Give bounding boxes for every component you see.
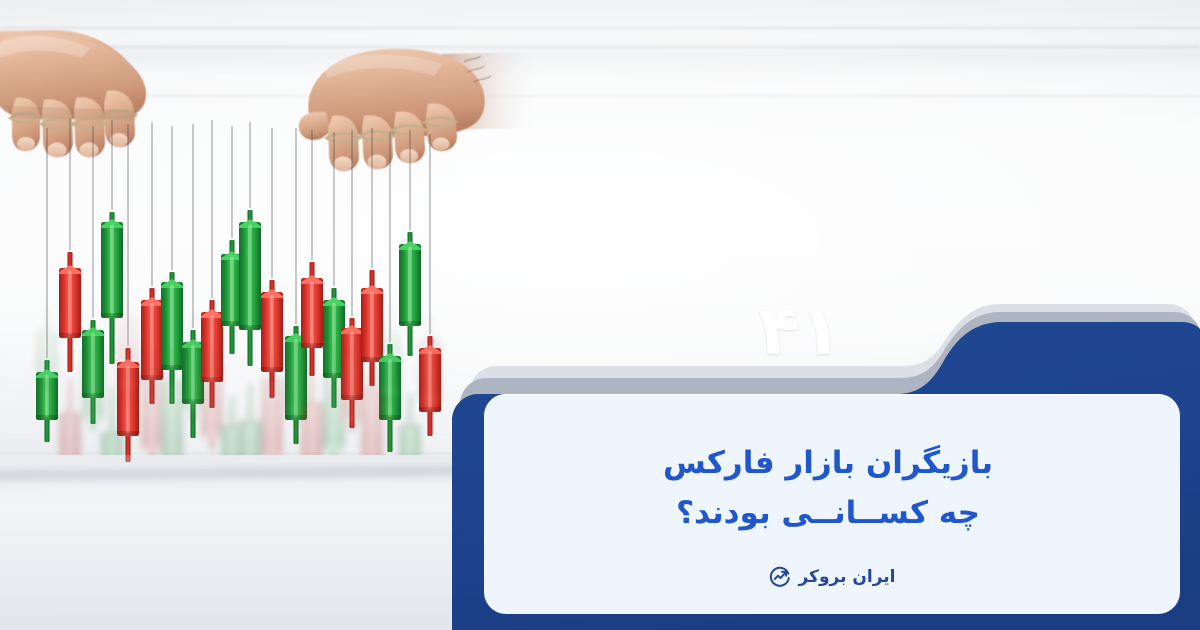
headline: بازیگران بازار فارکس چه کســانــی بودند؟ [506,438,1150,538]
brand-name: ایران بروکر [798,567,895,587]
card-inner-panel: بازیگران بازار فارکس چه کســانــی بودند؟… [484,394,1180,614]
trend-up-circle-icon [768,565,791,588]
banner-stage: ۴۱ بازیگران بازار فارکس چه کســانــی بود… [0,0,1200,630]
headline-line-2: چه کســانــی بودند؟ [506,488,1150,538]
candlestick-chart [0,0,470,470]
badge-number: ۴۱ [452,298,1148,366]
headline-line-1: بازیگران بازار فارکس [506,438,1150,488]
brand-lockup: ایران بروکر [484,565,1180,588]
folder-card: ۴۱ بازیگران بازار فارکس چه کســانــی بود… [452,284,1200,630]
